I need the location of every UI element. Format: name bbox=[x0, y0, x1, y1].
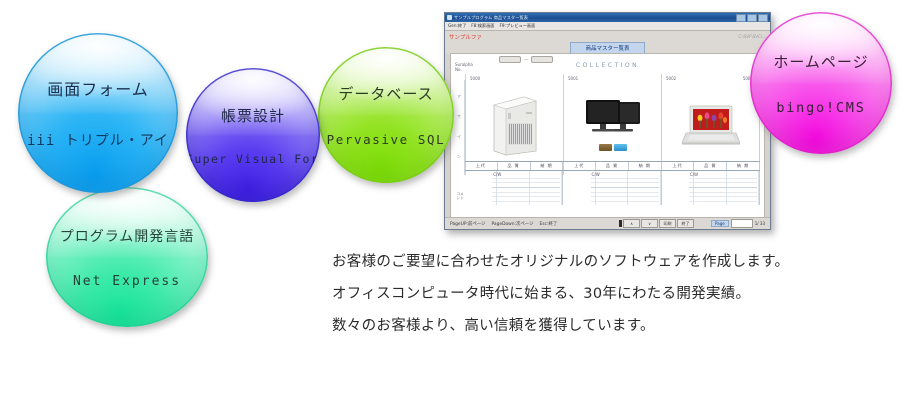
collection-title: COLLECTION bbox=[451, 62, 764, 69]
bubble-subtitle: Net Express bbox=[46, 274, 208, 289]
window-menu-bar: Gen:終了 F8:検索画面 F9:プレビュー画面 bbox=[445, 22, 770, 31]
column-code: 5001 bbox=[568, 76, 578, 81]
page-label: Page bbox=[711, 220, 729, 227]
preview-dash: — bbox=[524, 57, 528, 62]
bubble-screen-form[interactable]: 画面フォーム iii トリプル・アイ bbox=[18, 33, 178, 193]
laptop-pc-icon bbox=[680, 103, 742, 147]
window-icon bbox=[447, 15, 452, 20]
product-column: 5000 bbox=[465, 74, 563, 175]
table-header-cell: 納 期 bbox=[531, 162, 564, 170]
report-meta: Suralpha No. bbox=[455, 62, 473, 72]
table-header-cell: 上代 bbox=[563, 162, 596, 170]
print-button[interactable]: 印刷 bbox=[659, 219, 676, 228]
copy-line-2: オフィスコンピュータ時代に始まる、30年にわたる開発実績。 bbox=[332, 278, 892, 310]
table-row: C/W bbox=[662, 171, 760, 205]
scroll-down-button[interactable]: ∨ bbox=[641, 219, 658, 228]
table-rule-lines bbox=[492, 174, 560, 203]
bubble-homepage[interactable]: ホームページ bingo!CMS bbox=[750, 12, 892, 154]
scroll-up-button[interactable]: ∧ bbox=[623, 219, 640, 228]
product-columns: 5000 bbox=[465, 74, 760, 175]
hint-exit: Esc:終了 bbox=[539, 221, 557, 227]
bubble-subtitle: iii トリプル・アイ bbox=[18, 130, 178, 150]
bubble-subtitle: Pervasive SQL bbox=[318, 132, 454, 147]
copy-line-3: 数々のお客様より、高い信頼を獲得しています。 bbox=[332, 310, 892, 342]
rail-mark-0: ア bbox=[457, 94, 461, 100]
status-controls: ∧ ∨ 印刷 終了 Page 1/ 33 bbox=[619, 219, 765, 228]
window-controls bbox=[736, 14, 768, 22]
bubble-subtitle: bingo!CMS bbox=[750, 100, 892, 116]
table-header-cell: 上代 bbox=[465, 162, 498, 170]
dual-monitor-icon bbox=[582, 98, 644, 142]
status-divider bbox=[619, 220, 622, 227]
menu-item-1[interactable]: F8:検索画面 bbox=[471, 23, 494, 29]
table-header-cell: 納 期 bbox=[629, 162, 662, 170]
bubble-title: プログラム開発言語 bbox=[46, 226, 208, 246]
close-button[interactable] bbox=[758, 14, 768, 22]
window-status-bar: PageUP:前ページ PageDown:次ページ Esc:終了 ∧ ∨ 印刷 … bbox=[445, 217, 770, 229]
product-column: 5002 5003 bbox=[661, 74, 760, 175]
table-header-cell: 上代 bbox=[662, 162, 695, 170]
bubble-form-design[interactable]: 帳票設計 Super Visual Formade bbox=[186, 68, 320, 202]
tag-brown bbox=[599, 144, 612, 151]
copy-line-1: お客様のご要望に合わせたオリジナルのソフトウェアを作成します。 bbox=[332, 246, 892, 278]
corner-note: C:\SVF\SVC\... bbox=[738, 34, 766, 39]
maximize-button[interactable] bbox=[747, 14, 757, 22]
report-table: コメント 上代 品 質 納 期 上代 品 質 納 期 上代 品 質 納 期 C/… bbox=[465, 161, 760, 205]
desktop-pc-icon bbox=[486, 93, 544, 157]
table-rule-lines bbox=[689, 174, 757, 203]
app-screenshot-window: サンプルプログラム 商品マスター覧表 Gen:終了 F8:検索画面 F9:プレビ… bbox=[444, 12, 771, 230]
product-column: 5001 bbox=[563, 74, 661, 175]
exit-button[interactable]: 終了 bbox=[677, 219, 694, 228]
hint-next-page: PageDown:次ページ bbox=[491, 221, 533, 227]
rail-mark-1: サ bbox=[457, 114, 461, 120]
menu-item-2[interactable]: F9:プレビュー画面 bbox=[500, 23, 536, 29]
tag-blue bbox=[614, 144, 627, 151]
table-header-cell: 品 質 bbox=[498, 162, 531, 170]
window-title-text: サンプルプログラム 商品マスター覧表 bbox=[454, 15, 528, 21]
report-preview-page: — COLLECTION Suralpha No. ア サ イ ン 5000 bbox=[450, 53, 765, 220]
minimize-button[interactable] bbox=[736, 14, 746, 22]
table-header-cell: 納 期 bbox=[727, 162, 760, 170]
bubble-title: 画面フォーム bbox=[18, 76, 178, 100]
column-code: 5002 bbox=[666, 76, 676, 81]
bubble-net-express[interactable]: プログラム開発言語 Net Express bbox=[46, 187, 208, 327]
rail-mark-2: イ bbox=[457, 134, 461, 140]
product-tags bbox=[599, 144, 627, 151]
rail-mark-3: ン bbox=[457, 154, 461, 160]
page-total: 1/ 33 bbox=[755, 221, 765, 226]
table-rule-lines bbox=[591, 174, 659, 203]
page-input[interactable] bbox=[731, 219, 753, 228]
table-row: C/W bbox=[563, 171, 661, 205]
sample-label: サンプルファ bbox=[449, 33, 482, 41]
table-header-cell: 品 質 bbox=[694, 162, 727, 170]
page-navigator: Page 1/ 33 bbox=[711, 219, 765, 228]
bubble-title: ホームページ bbox=[750, 51, 892, 72]
table-body: C/W C/W C/W bbox=[465, 171, 760, 205]
bubble-database[interactable]: データベース Pervasive SQL bbox=[318, 47, 454, 183]
table-header-cell: 品 質 bbox=[596, 162, 629, 170]
bubble-subtitle: Super Visual Formade bbox=[186, 152, 320, 166]
bubble-title: 帳票設計 bbox=[186, 105, 320, 126]
table-row: C/W bbox=[465, 171, 563, 205]
window-subheader: サンプルファ C:\SVF\SVC\... bbox=[445, 31, 770, 42]
vertical-label: コメント bbox=[456, 193, 464, 201]
row-rail: ア サ イ ン bbox=[456, 80, 465, 175]
hint-prev-page: PageUP:前ページ bbox=[450, 221, 485, 227]
meta-no: No. bbox=[455, 67, 473, 72]
column-code: 5000 bbox=[470, 76, 480, 81]
promo-graphic: サンプルプログラム 商品マスター覧表 Gen:終了 F8:検索画面 F9:プレビ… bbox=[0, 0, 910, 400]
menu-item-0[interactable]: Gen:終了 bbox=[448, 23, 466, 29]
bubble-title: データベース bbox=[318, 83, 454, 104]
promo-copy: お客様のご要望に合わせたオリジナルのソフトウェアを作成します。 オフィスコンピュ… bbox=[332, 246, 892, 342]
table-header-row: 上代 品 質 納 期 上代 品 質 納 期 上代 品 質 納 期 bbox=[465, 161, 760, 171]
window-title-bar: サンプルプログラム 商品マスター覧表 bbox=[445, 13, 770, 22]
